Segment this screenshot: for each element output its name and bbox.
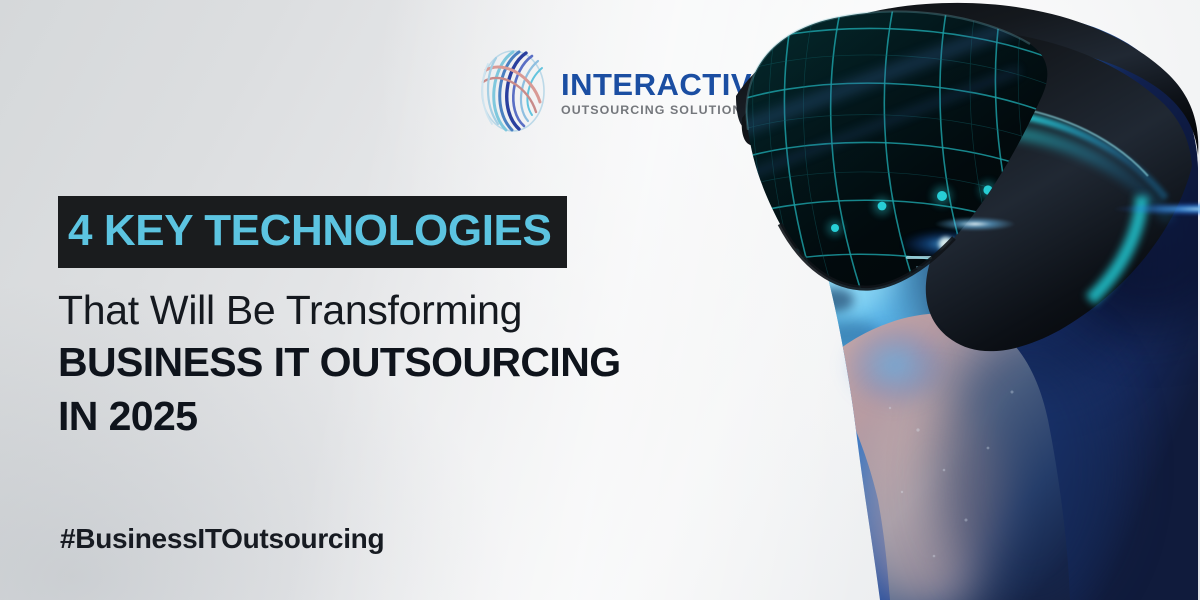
kicker-text: 4 KEY TECHNOLOGIES [68,209,551,253]
brand-logo[interactable]: INTERACTIVE OUTSOURCING SOLUTIONS [474,48,773,134]
headline-subline: That Will Be Transforming [58,289,758,332]
headline-block: 4 KEY TECHNOLOGIES That Will Be Transfor… [58,196,758,440]
globe-sphere-logo-icon [474,48,552,134]
vr-headset-head-illustration [730,0,1200,600]
hashtag-label: #BusinessITOutsourcing [60,523,384,555]
promo-banner: INTERACTIVE OUTSOURCING SOLUTIONS 4 KEY … [0,0,1200,600]
headline-main-line-1: BUSINESS IT OUTSOURCING [58,340,758,386]
headline-main-line-2: IN 2025 [58,394,758,440]
kicker-banner: 4 KEY TECHNOLOGIES [58,196,567,268]
